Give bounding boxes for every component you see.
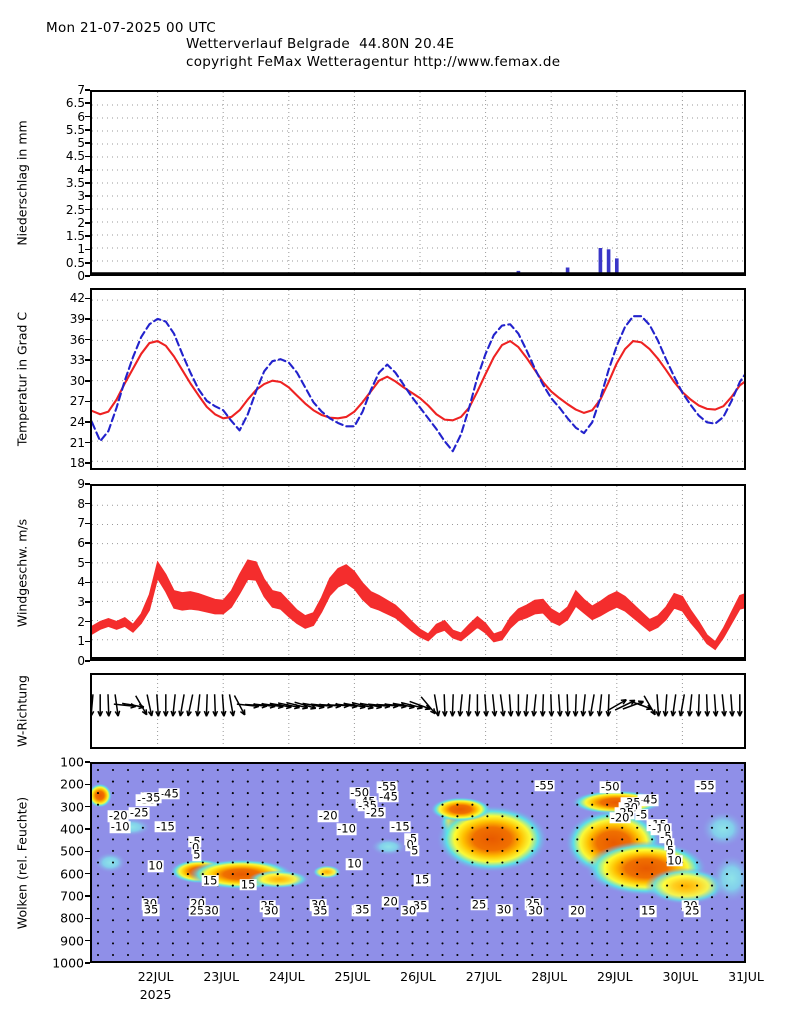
- stipple-dot: [411, 827, 413, 829]
- stipple-dot: [142, 838, 144, 840]
- stipple-dot: [187, 769, 189, 771]
- stipple-dot: [262, 792, 264, 794]
- contour-label: 10: [147, 860, 164, 872]
- precip-bar: [615, 258, 619, 274]
- stipple-dot: [187, 942, 189, 944]
- y-tick-label: 1000: [52, 956, 84, 971]
- stipple-dot: [112, 942, 114, 944]
- stipple-dot: [576, 919, 578, 921]
- stipple-dot: [262, 815, 264, 817]
- contour-label: 25: [684, 906, 701, 918]
- stipple-dot: [441, 827, 443, 829]
- stipple-dot: [516, 919, 518, 921]
- stipple-dot: [591, 769, 593, 771]
- stipple-dot: [277, 885, 279, 887]
- stipple-dot: [651, 873, 653, 875]
- stipple-dot: [307, 908, 309, 910]
- stipple-dot: [531, 850, 533, 852]
- stipple-dot: [307, 942, 309, 944]
- stipple-dot: [726, 769, 728, 771]
- stipple-dot: [97, 896, 99, 898]
- stipple-dot: [606, 804, 608, 806]
- stipple-dot: [561, 861, 563, 863]
- y-tick-label: 0: [77, 654, 85, 668]
- y-tick-label: 1: [77, 634, 85, 648]
- stipple-dot: [666, 873, 668, 875]
- stipple-dot: [127, 873, 129, 875]
- stipple-dot: [501, 850, 503, 852]
- stipple-dot: [172, 873, 174, 875]
- stipple-dot: [621, 827, 623, 829]
- stipple-dot: [441, 815, 443, 817]
- stipple-dot: [681, 838, 683, 840]
- wind-arrow-shaft: [707, 694, 708, 716]
- x-tick-label: 30JUL: [663, 969, 699, 984]
- stipple-dot: [636, 896, 638, 898]
- stipple-dot: [262, 838, 264, 840]
- stipple-dot: [232, 942, 234, 944]
- stipple-dot: [232, 827, 234, 829]
- y-tick-label: 39: [70, 312, 85, 326]
- stipple-dot: [501, 804, 503, 806]
- stipple-dot: [471, 804, 473, 806]
- stipple-dot: [471, 919, 473, 921]
- stipple-dot: [217, 954, 219, 956]
- stipple-dot: [741, 838, 743, 840]
- stipple-dot: [456, 885, 458, 887]
- stipple-dot: [516, 827, 518, 829]
- stipple-dot: [112, 908, 114, 910]
- stipple-dot: [546, 804, 548, 806]
- stipple-dot: [232, 804, 234, 806]
- stipple-dot: [501, 861, 503, 863]
- stipple-dot: [127, 908, 129, 910]
- stipple-dot: [396, 850, 398, 852]
- copyright-line: copyright FeMax Wetteragentur http://www…: [186, 54, 560, 70]
- stipple-dot: [426, 815, 428, 817]
- y-tick-label: 300: [60, 799, 84, 814]
- wind-arrow-shaft: [215, 694, 216, 716]
- stipple-dot: [232, 954, 234, 956]
- stipple-dot: [247, 781, 249, 783]
- stipple-dot: [591, 919, 593, 921]
- stipple-dot: [367, 919, 369, 921]
- stipple-dot: [202, 931, 204, 933]
- stipple-dot: [367, 931, 369, 933]
- stipple-dot: [112, 792, 114, 794]
- stipple-dot: [486, 850, 488, 852]
- stipple-dot: [546, 850, 548, 852]
- winddirection-axis-label: W-Richtung: [15, 675, 30, 747]
- stipple-dot: [621, 792, 623, 794]
- stipple-dot: [711, 919, 713, 921]
- stipple-dot: [247, 827, 249, 829]
- y-tick-label: 700: [60, 889, 84, 904]
- y-tick-label: 4.5: [66, 149, 85, 163]
- contour-label: -20: [318, 810, 339, 822]
- stipple-dot: [277, 942, 279, 944]
- stipple-dot: [516, 896, 518, 898]
- stipple-dot: [157, 954, 159, 956]
- stipple-dot: [352, 954, 354, 956]
- stipple-dot: [292, 908, 294, 910]
- stipple-dot: [531, 919, 533, 921]
- stipple-dot: [127, 769, 129, 771]
- contour-label: 30: [203, 905, 220, 917]
- stipple-dot: [411, 815, 413, 817]
- stipple-dot: [247, 954, 249, 956]
- contour-label: -45: [159, 788, 180, 800]
- stipple-dot: [411, 954, 413, 956]
- stipple-dot: [546, 861, 548, 863]
- stipple-dot: [307, 896, 309, 898]
- stipple-dot: [172, 804, 174, 806]
- stipple-dot: [142, 769, 144, 771]
- stipple-dot: [217, 896, 219, 898]
- stipple-dot: [666, 954, 668, 956]
- stipple-dot: [591, 838, 593, 840]
- y-tick-label: 5.5: [66, 123, 85, 137]
- stipple-dot: [546, 931, 548, 933]
- stipple-dot: [666, 792, 668, 794]
- y-tick-label: 200: [60, 777, 84, 792]
- stipple-dot: [546, 908, 548, 910]
- stipple-dot: [172, 861, 174, 863]
- stipple-dot: [202, 942, 204, 944]
- stipple-dot: [501, 792, 503, 794]
- stipple-dot: [217, 815, 219, 817]
- stipple-dot: [561, 815, 563, 817]
- stipple-dot: [426, 954, 428, 956]
- x-tick-label: 27JUL: [466, 969, 502, 984]
- stipple-dot: [322, 885, 324, 887]
- contour-label: -10: [110, 821, 131, 833]
- stipple-dot: [367, 885, 369, 887]
- stipple-dot: [711, 896, 713, 898]
- stipple-dot: [711, 792, 713, 794]
- stipple-dot: [157, 931, 159, 933]
- stipple-dot: [232, 931, 234, 933]
- stipple-dot: [606, 827, 608, 829]
- x-tick-label: 28JUL: [531, 969, 567, 984]
- stipple-dot: [307, 873, 309, 875]
- wind-arrow-shaft: [421, 697, 435, 714]
- wind-direction-arrows: [92, 694, 746, 716]
- stipple-dot: [651, 954, 653, 956]
- contour-label: 30: [527, 905, 544, 917]
- stipple-dot: [681, 815, 683, 817]
- contour-label: -50: [600, 781, 621, 793]
- stipple-dot: [666, 804, 668, 806]
- stipple-dot: [202, 861, 204, 863]
- stipple-dot: [277, 769, 279, 771]
- stipple-dot: [591, 792, 593, 794]
- stipple-dot: [337, 792, 339, 794]
- wind-arrow-head: [504, 711, 506, 716]
- stipple-dot: [292, 781, 294, 783]
- cloud-blob: [701, 811, 746, 848]
- stipple-dot: [591, 815, 593, 817]
- stipple-dot: [546, 942, 548, 944]
- stipple-dot: [621, 781, 623, 783]
- stipple-dot: [307, 919, 309, 921]
- stipple-dot: [172, 896, 174, 898]
- stipple-dot: [621, 861, 623, 863]
- x-axis-year-label: 2025: [140, 987, 172, 1002]
- stipple-dot: [127, 954, 129, 956]
- stipple-dot: [591, 931, 593, 933]
- stipple-dot: [352, 838, 354, 840]
- stipple-dot: [621, 896, 623, 898]
- windspeed-axis-label: Windgeschw. m/s: [15, 518, 30, 626]
- stipple-dot: [441, 908, 443, 910]
- stipple-dot: [382, 954, 384, 956]
- stipple-dot: [97, 804, 99, 806]
- stipple-dot: [97, 769, 99, 771]
- stipple-dot: [456, 815, 458, 817]
- stipple-dot: [576, 931, 578, 933]
- stipple-dot: [217, 931, 219, 933]
- stipple-dot: [726, 850, 728, 852]
- stipple-dot: [202, 781, 204, 783]
- stipple-dot: [501, 919, 503, 921]
- stipple-dot: [97, 781, 99, 783]
- contour-label: 35: [312, 905, 329, 917]
- stipple-dot: [456, 792, 458, 794]
- temp-line-temp_red_solid: [92, 341, 746, 432]
- stipple-dot: [621, 954, 623, 956]
- stipple-dot: [606, 942, 608, 944]
- winddirection-panel: [90, 673, 746, 749]
- temperature-axis-label: Temperatur in Grad C: [15, 312, 30, 446]
- stipple-dot: [561, 885, 563, 887]
- y-tick-label: 7: [77, 83, 85, 97]
- contour-label: 15: [640, 906, 657, 918]
- stipple-dot: [217, 804, 219, 806]
- y-tick-label: 6.5: [66, 96, 85, 110]
- stipple-dot: [531, 954, 533, 956]
- stipple-dot: [217, 861, 219, 863]
- stipple-dot: [396, 804, 398, 806]
- stipple-dot: [142, 942, 144, 944]
- stipple-dot: [471, 781, 473, 783]
- stipple-dot: [666, 908, 668, 910]
- stipple-dot: [576, 838, 578, 840]
- stipple-dot: [696, 861, 698, 863]
- stipple-dot: [486, 919, 488, 921]
- stipple-dot: [531, 873, 533, 875]
- stipple-dot: [531, 769, 533, 771]
- stipple-dot: [247, 873, 249, 875]
- stipple-dot: [636, 827, 638, 829]
- stipple-dot: [531, 861, 533, 863]
- stipple-dot: [501, 954, 503, 956]
- stipple-dot: [337, 850, 339, 852]
- stipple-dot: [651, 896, 653, 898]
- wind-arrow-shaft: [452, 694, 453, 716]
- y-tick-label: 2: [77, 216, 85, 230]
- stipple-dot: [501, 885, 503, 887]
- precip-bar: [607, 249, 611, 274]
- stipple-dot: [591, 827, 593, 829]
- stipple-dot: [441, 769, 443, 771]
- stipple-dot: [591, 885, 593, 887]
- stipple-dot: [352, 850, 354, 852]
- stipple-dot: [531, 838, 533, 840]
- stipple-dot: [576, 792, 578, 794]
- stipple-dot: [726, 815, 728, 817]
- y-tick-label: 3: [77, 189, 85, 203]
- stipple-dot: [456, 804, 458, 806]
- stipple-dot: [232, 769, 234, 771]
- stipple-dot: [726, 908, 728, 910]
- stipple-dot: [591, 896, 593, 898]
- stipple-dot: [741, 954, 743, 956]
- y-tick-label: 600: [60, 866, 84, 881]
- stipple-dot: [501, 942, 503, 944]
- contour-label: -15: [155, 821, 176, 833]
- stipple-dot: [97, 919, 99, 921]
- stipple-dot: [471, 954, 473, 956]
- stipple-dot: [172, 954, 174, 956]
- y-tick-label: 100: [60, 755, 84, 770]
- wind-arrow-head: [92, 711, 94, 716]
- stipple-dot: [606, 815, 608, 817]
- stipple-dot: [396, 815, 398, 817]
- stipple-dot: [636, 769, 638, 771]
- y-tick-label: 2: [77, 615, 85, 629]
- stipple-dot: [157, 850, 159, 852]
- y-tick-label: 1: [77, 242, 85, 256]
- wind-arrow-shaft: [551, 694, 552, 716]
- stipple-dot: [546, 769, 548, 771]
- stipple-dot: [531, 942, 533, 944]
- stipple-dot: [561, 896, 563, 898]
- stipple-dot: [441, 885, 443, 887]
- grid: [158, 675, 683, 747]
- stipple-dot: [187, 873, 189, 875]
- stipple-dot: [382, 827, 384, 829]
- stipple-dot: [322, 919, 324, 921]
- stipple-dot: [486, 792, 488, 794]
- stipple-dot: [142, 781, 144, 783]
- contour-label: -25: [129, 808, 150, 820]
- stipple-dot: [292, 861, 294, 863]
- stipple-dot: [292, 827, 294, 829]
- stipple-dot: [352, 919, 354, 921]
- contour-label: 30: [401, 905, 418, 917]
- stipple-dot: [277, 792, 279, 794]
- stipple-dot: [172, 919, 174, 921]
- stipple-dot: [337, 781, 339, 783]
- contour-label: 25: [471, 899, 488, 911]
- stipple-dot: [292, 838, 294, 840]
- stipple-dot: [546, 873, 548, 875]
- stipple-dot: [232, 873, 234, 875]
- stipple-dot: [187, 885, 189, 887]
- wind-arrow-shaft: [608, 694, 609, 716]
- stipple-dot: [441, 896, 443, 898]
- stipple-dot: [561, 919, 563, 921]
- y-tick-label: 5: [77, 136, 85, 150]
- stipple-dot: [711, 850, 713, 852]
- y-tick-label: 42: [70, 291, 85, 305]
- stipple-dot: [202, 804, 204, 806]
- y-tick-label: 36: [70, 333, 85, 347]
- stipple-dot: [396, 885, 398, 887]
- stipple-dot: [157, 838, 159, 840]
- stipple-dot: [112, 885, 114, 887]
- stipple-dot: [411, 942, 413, 944]
- stipple-dot: [546, 792, 548, 794]
- stipple-dot: [636, 838, 638, 840]
- stipple-dot: [367, 827, 369, 829]
- stipple-dot: [307, 815, 309, 817]
- stipple-dot: [322, 769, 324, 771]
- stipple-dot: [382, 885, 384, 887]
- stipple-dot: [292, 919, 294, 921]
- stipple-dot: [307, 885, 309, 887]
- stipple-dot: [531, 792, 533, 794]
- stipple-dot: [277, 838, 279, 840]
- stipple-dot: [696, 838, 698, 840]
- stipple-dot: [696, 850, 698, 852]
- stipple-dot: [741, 908, 743, 910]
- y-tick-label: 24: [70, 415, 85, 429]
- stipple-dot: [142, 873, 144, 875]
- stipple-dot: [441, 919, 443, 921]
- stipple-dot: [277, 954, 279, 956]
- stipple-dot: [726, 861, 728, 863]
- stipple-dot: [262, 931, 264, 933]
- stipple-dot: [367, 896, 369, 898]
- stipple-dot: [471, 792, 473, 794]
- stipple-dot: [202, 769, 204, 771]
- stipple-dot: [97, 861, 99, 863]
- stipple-dot: [367, 861, 369, 863]
- stipple-dot: [516, 838, 518, 840]
- stipple-dot: [112, 919, 114, 921]
- stipple-dot: [666, 919, 668, 921]
- stipple-dot: [247, 838, 249, 840]
- stipple-dot: [681, 781, 683, 783]
- stipple-dot: [591, 942, 593, 944]
- stipple-dot: [606, 931, 608, 933]
- stipple-dot: [501, 781, 503, 783]
- stipple-dot: [501, 896, 503, 898]
- stipple-dot: [576, 873, 578, 875]
- stipple-dot: [471, 827, 473, 829]
- stipple-dot: [337, 769, 339, 771]
- stipple-dot: [516, 769, 518, 771]
- stipple-dot: [187, 827, 189, 829]
- stipple-dot: [247, 769, 249, 771]
- stipple-dot: [97, 850, 99, 852]
- contour-label: -10: [336, 823, 357, 835]
- stipple-dot: [711, 908, 713, 910]
- stipple-dot: [307, 838, 309, 840]
- stipple-dot: [561, 942, 563, 944]
- stipple-dot: [441, 792, 443, 794]
- stipple-dot: [112, 873, 114, 875]
- stipple-dot: [426, 781, 428, 783]
- stipple-dot: [651, 942, 653, 944]
- stipple-dot: [142, 827, 144, 829]
- stipple-dot: [741, 896, 743, 898]
- stipple-dot: [232, 861, 234, 863]
- contour-label: 35: [143, 904, 160, 916]
- stipple-dot: [651, 781, 653, 783]
